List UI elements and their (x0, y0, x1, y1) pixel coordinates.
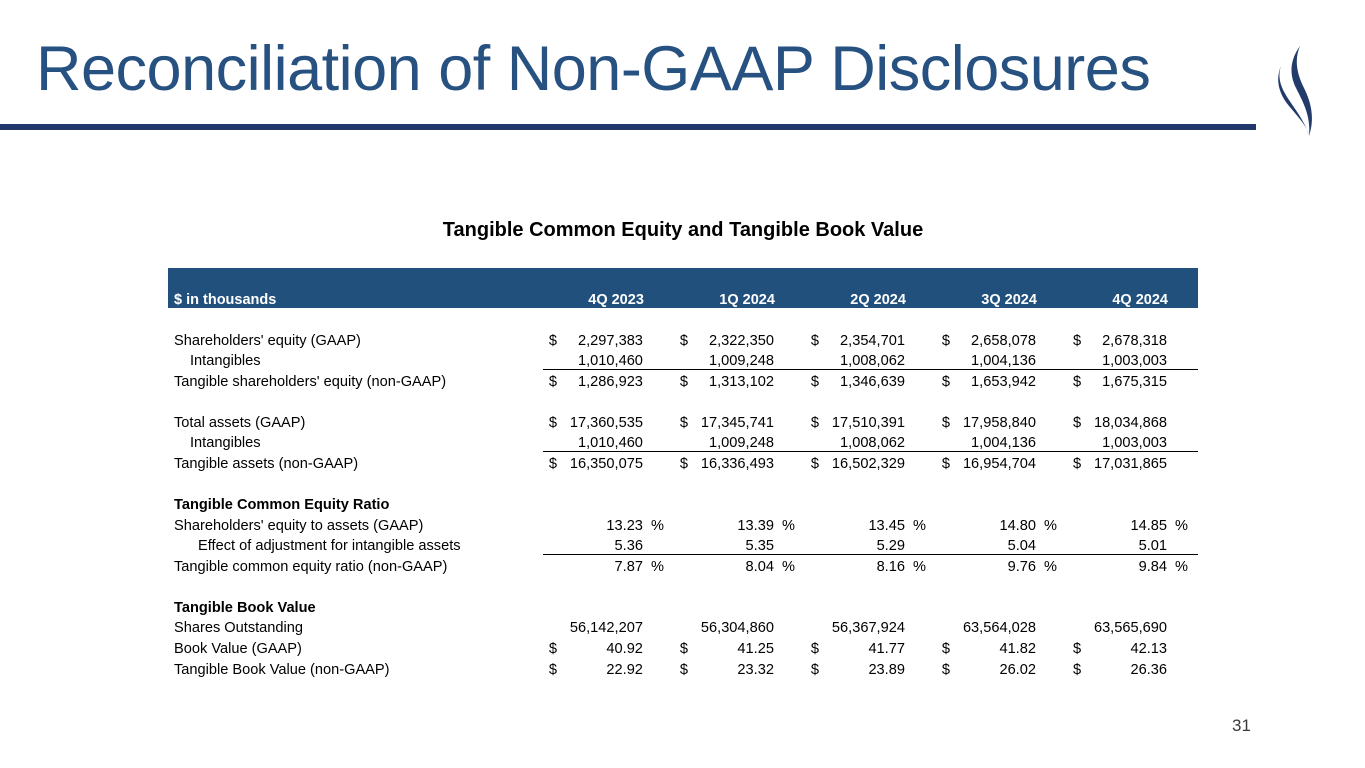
column-header-1q2024: 1Q 2024 (674, 268, 805, 308)
row-label: Effect of adjustment for intangible asse… (168, 534, 543, 555)
percent-symbol (907, 369, 936, 390)
percent-symbol (907, 431, 936, 452)
cell-value: 1,010,460 (563, 431, 645, 452)
spacer-row (168, 575, 1198, 595)
percent-symbol: % (1038, 513, 1067, 534)
percent-symbol (907, 451, 936, 472)
currency-symbol (543, 349, 563, 370)
currency-symbol: $ (936, 657, 956, 678)
row-label: Book Value (GAAP) (168, 636, 543, 657)
cell-value: 1,003,003 (1087, 431, 1169, 452)
currency-symbol (805, 534, 825, 555)
spacer-row (168, 472, 1198, 492)
currency-symbol (1067, 349, 1087, 370)
row-label: Total assets (GAAP) (168, 410, 543, 431)
currency-symbol (936, 349, 956, 370)
tangible-common-equity-table: $ in thousands 4Q 2023 1Q 2024 2Q 2024 3… (168, 268, 1198, 678)
cell-value: 1,009,248 (694, 431, 776, 452)
cell-value: 17,345,741 (694, 410, 776, 431)
cell-value: 9.76 (956, 554, 1038, 575)
percent-symbol (645, 657, 674, 678)
currency-symbol (1067, 513, 1087, 534)
cell-value: 8.16 (825, 554, 907, 575)
cell-value: 2,658,078 (956, 328, 1038, 349)
currency-symbol (805, 513, 825, 534)
row-label: Shareholders' equity (GAAP) (168, 328, 543, 349)
column-header-2q2024: 2Q 2024 (805, 268, 936, 308)
percent-symbol (1038, 657, 1067, 678)
cell-value: 1,313,102 (694, 369, 776, 390)
percent-symbol (645, 451, 674, 472)
cell-value: 26.36 (1087, 657, 1169, 678)
currency-symbol: $ (1067, 410, 1087, 431)
cell-value: 1,286,923 (563, 369, 645, 390)
percent-symbol: % (645, 554, 674, 575)
table-row: Shareholders' equity (GAAP) $ 2,297,383 … (168, 328, 1198, 349)
column-header-4q2023: 4Q 2023 (543, 268, 674, 308)
cell-value: 16,350,075 (563, 451, 645, 472)
currency-symbol: $ (1067, 451, 1087, 472)
currency-symbol: $ (805, 451, 825, 472)
cell-value: 5.35 (694, 534, 776, 555)
currency-symbol: $ (674, 451, 694, 472)
currency-symbol (1067, 616, 1087, 637)
currency-symbol (936, 554, 956, 575)
cell-value: 1,675,315 (1087, 369, 1169, 390)
currency-symbol: $ (805, 657, 825, 678)
percent-symbol (1038, 349, 1067, 370)
section-heading-row: Tangible Common Equity Ratio (168, 492, 1198, 513)
row-label: Tangible shareholders' equity (non-GAAP) (168, 369, 543, 390)
currency-symbol: $ (936, 451, 956, 472)
percent-symbol (907, 534, 936, 555)
cell-value: 8.04 (694, 554, 776, 575)
cell-value: 13.23 (563, 513, 645, 534)
currency-symbol: $ (805, 410, 825, 431)
currency-symbol: $ (543, 636, 563, 657)
cell-value: 18,034,868 (1087, 410, 1169, 431)
cell-value: 40.92 (563, 636, 645, 657)
cell-value: 26.02 (956, 657, 1038, 678)
currency-symbol: $ (936, 369, 956, 390)
table-row: Intangibles 1,010,460 1,009,248 1,008,06… (168, 349, 1198, 370)
percent-symbol (1038, 369, 1067, 390)
percent-symbol (645, 534, 674, 555)
percent-symbol (1038, 616, 1067, 637)
currency-symbol (1067, 431, 1087, 452)
cell-value: 16,502,329 (825, 451, 907, 472)
cell-value: 5.36 (563, 534, 645, 555)
cell-value: 56,142,207 (563, 616, 645, 637)
table-row: Effect of adjustment for intangible asse… (168, 534, 1198, 555)
currency-symbol: $ (543, 369, 563, 390)
percent-symbol (907, 349, 936, 370)
currency-symbol (674, 431, 694, 452)
cell-value: 17,360,535 (563, 410, 645, 431)
row-label: Intangibles (168, 349, 543, 370)
section-heading-tangible-book-value: Tangible Book Value (168, 595, 1198, 616)
cell-value: 41.25 (694, 636, 776, 657)
cell-value: 1,010,460 (563, 349, 645, 370)
currency-symbol (674, 534, 694, 555)
section-heading-tangible-common-equity-ratio: Tangible Common Equity Ratio (168, 492, 1198, 513)
header-units-label: $ in thousands (168, 268, 543, 308)
percent-symbol (1169, 410, 1198, 431)
currency-symbol (805, 349, 825, 370)
cell-value: 1,008,062 (825, 349, 907, 370)
currency-symbol: $ (805, 369, 825, 390)
currency-symbol (674, 513, 694, 534)
cell-value: 16,336,493 (694, 451, 776, 472)
currency-symbol (543, 534, 563, 555)
percent-symbol (776, 369, 805, 390)
cell-value: 5.29 (825, 534, 907, 555)
table-row: Book Value (GAAP) $ 40.92 $ 41.25 $ 41.7… (168, 636, 1198, 657)
title-divider-rule (0, 124, 1256, 130)
percent-symbol (1169, 369, 1198, 390)
currency-symbol: $ (805, 636, 825, 657)
row-label: Tangible Book Value (non-GAAP) (168, 657, 543, 678)
percent-symbol: % (1038, 554, 1067, 575)
percent-symbol (1038, 431, 1067, 452)
percent-symbol: % (1169, 513, 1198, 534)
cell-value: 16,954,704 (956, 451, 1038, 472)
currency-symbol: $ (674, 657, 694, 678)
currency-symbol (674, 349, 694, 370)
currency-symbol: $ (936, 328, 956, 349)
currency-symbol: $ (543, 410, 563, 431)
column-header-3q2024: 3Q 2024 (936, 268, 1067, 308)
currency-symbol: $ (936, 410, 956, 431)
percent-symbol (776, 328, 805, 349)
table-header-row: $ in thousands 4Q 2023 1Q 2024 2Q 2024 3… (168, 268, 1198, 308)
percent-symbol: % (907, 513, 936, 534)
cell-value: 2,678,318 (1087, 328, 1169, 349)
cell-value: 9.84 (1087, 554, 1169, 575)
cell-value: 1,003,003 (1087, 349, 1169, 370)
currency-symbol: $ (674, 410, 694, 431)
currency-symbol: $ (543, 328, 563, 349)
percent-symbol (1038, 534, 1067, 555)
table-row: Tangible Book Value (non-GAAP) $ 22.92 $… (168, 657, 1198, 678)
cell-value: 14.80 (956, 513, 1038, 534)
currency-symbol (936, 431, 956, 452)
currency-symbol: $ (1067, 328, 1087, 349)
cell-value: 17,510,391 (825, 410, 907, 431)
cell-value: 42.13 (1087, 636, 1169, 657)
cell-value: 23.32 (694, 657, 776, 678)
row-label: Tangible common equity ratio (non-GAAP) (168, 554, 543, 575)
table-row-subtotal: Tangible common equity ratio (non-GAAP) … (168, 554, 1198, 575)
currency-symbol (543, 554, 563, 575)
percent-symbol (907, 636, 936, 657)
table-row: Shareholders' equity to assets (GAAP) 13… (168, 513, 1198, 534)
percent-symbol (1169, 328, 1198, 349)
row-label: Shares Outstanding (168, 616, 543, 637)
row-label: Intangibles (168, 431, 543, 452)
percent-symbol (645, 431, 674, 452)
cell-value: 41.82 (956, 636, 1038, 657)
percent-symbol (776, 410, 805, 431)
currency-symbol: $ (674, 369, 694, 390)
cell-value: 2,354,701 (825, 328, 907, 349)
currency-symbol (543, 513, 563, 534)
percent-symbol (1169, 431, 1198, 452)
cell-value: 5.04 (956, 534, 1038, 555)
cell-value: 2,297,383 (563, 328, 645, 349)
cell-value: 63,565,690 (1087, 616, 1169, 637)
table-caption: Tangible Common Equity and Tangible Book… (168, 219, 1198, 242)
currency-symbol: $ (1067, 369, 1087, 390)
percent-symbol (907, 616, 936, 637)
cell-value: 2,322,350 (694, 328, 776, 349)
page-title: Reconciliation of Non-GAAP Disclosures (36, 36, 1150, 102)
cell-value: 5.01 (1087, 534, 1169, 555)
percent-symbol (776, 349, 805, 370)
currency-symbol (1067, 554, 1087, 575)
currency-symbol (674, 554, 694, 575)
cell-value: 1,009,248 (694, 349, 776, 370)
currency-symbol: $ (674, 636, 694, 657)
percent-symbol (776, 616, 805, 637)
cell-value: 1,346,639 (825, 369, 907, 390)
table-row-subtotal: Tangible assets (non-GAAP) $ 16,350,075 … (168, 451, 1198, 472)
currency-symbol (805, 431, 825, 452)
percent-symbol (1169, 534, 1198, 555)
percent-symbol (1038, 451, 1067, 472)
percent-symbol: % (776, 513, 805, 534)
percent-symbol: % (645, 513, 674, 534)
currency-symbol (543, 616, 563, 637)
cell-value: 1,653,942 (956, 369, 1038, 390)
percent-symbol (776, 657, 805, 678)
currency-symbol: $ (543, 451, 563, 472)
cell-value: 56,304,860 (694, 616, 776, 637)
percent-symbol (1169, 451, 1198, 472)
percent-symbol (776, 534, 805, 555)
cell-value: 1,004,136 (956, 349, 1038, 370)
percent-symbol (1169, 657, 1198, 678)
cell-value: 63,564,028 (956, 616, 1038, 637)
cell-value: 23.89 (825, 657, 907, 678)
currency-symbol (805, 616, 825, 637)
currency-symbol (936, 534, 956, 555)
percent-symbol (1169, 636, 1198, 657)
section-heading-row: Tangible Book Value (168, 595, 1198, 616)
currency-symbol: $ (1067, 636, 1087, 657)
percent-symbol (645, 636, 674, 657)
column-header-4q2024: 4Q 2024 (1067, 268, 1198, 308)
currency-symbol: $ (674, 328, 694, 349)
percent-symbol: % (907, 554, 936, 575)
percent-symbol (907, 657, 936, 678)
percent-symbol (776, 636, 805, 657)
cell-value: 56,367,924 (825, 616, 907, 637)
percent-symbol (645, 349, 674, 370)
cell-value: 7.87 (563, 554, 645, 575)
table-row: Intangibles 1,010,460 1,009,248 1,008,06… (168, 431, 1198, 452)
spacer-row (168, 390, 1198, 410)
cell-value: 14.85 (1087, 513, 1169, 534)
currency-symbol: $ (1067, 657, 1087, 678)
percent-symbol (645, 616, 674, 637)
table-row-subtotal: Tangible shareholders' equity (non-GAAP)… (168, 369, 1198, 390)
cell-value: 22.92 (563, 657, 645, 678)
currency-symbol: $ (543, 657, 563, 678)
table-row: Total assets (GAAP) $ 17,360,535 $ 17,34… (168, 410, 1198, 431)
cell-value: 13.45 (825, 513, 907, 534)
row-label: Tangible assets (non-GAAP) (168, 451, 543, 472)
percent-symbol: % (1169, 554, 1198, 575)
page-number: 31 (1232, 716, 1251, 736)
percent-symbol: % (776, 554, 805, 575)
currency-symbol (1067, 534, 1087, 555)
percent-symbol (645, 328, 674, 349)
percent-symbol (907, 410, 936, 431)
currency-symbol (805, 554, 825, 575)
percent-symbol (1169, 616, 1198, 637)
percent-symbol (645, 369, 674, 390)
flame-swoosh-logo (1263, 44, 1335, 140)
currency-symbol (674, 616, 694, 637)
cell-value: 17,031,865 (1087, 451, 1169, 472)
cell-value: 41.77 (825, 636, 907, 657)
percent-symbol (1038, 328, 1067, 349)
percent-symbol (907, 328, 936, 349)
percent-symbol (1169, 349, 1198, 370)
cell-value: 17,958,840 (956, 410, 1038, 431)
spacer-row (168, 308, 1198, 328)
cell-value: 1,004,136 (956, 431, 1038, 452)
row-label: Shareholders' equity to assets (GAAP) (168, 513, 543, 534)
currency-symbol (936, 616, 956, 637)
percent-symbol (776, 451, 805, 472)
currency-symbol: $ (936, 636, 956, 657)
currency-symbol: $ (805, 328, 825, 349)
cell-value: 13.39 (694, 513, 776, 534)
percent-symbol (776, 431, 805, 452)
currency-symbol (543, 431, 563, 452)
currency-symbol (936, 513, 956, 534)
percent-symbol (1038, 636, 1067, 657)
percent-symbol (645, 410, 674, 431)
table-row: Shares Outstanding 56,142,207 56,304,860… (168, 616, 1198, 637)
cell-value: 1,008,062 (825, 431, 907, 452)
percent-symbol (1038, 410, 1067, 431)
